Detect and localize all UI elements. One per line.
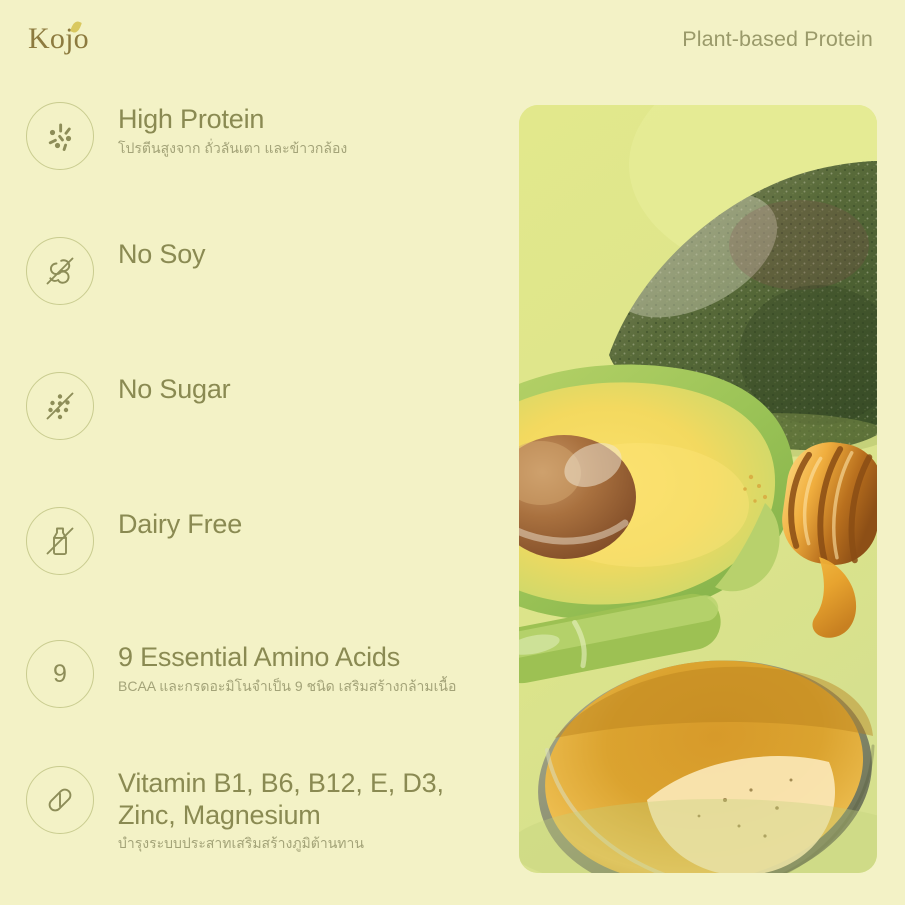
- feature-text: No Soy: [118, 237, 205, 271]
- feature-list: High Protein โปรตีนสูงจาก ถั่วลันเตา และ…: [0, 96, 500, 896]
- feature-item-vitamins: Vitamin B1, B6, B12, E, D3, Zinc, Magnes…: [26, 766, 496, 853]
- grain-burst-icon: [26, 102, 94, 170]
- page-title: Plant-based Protein: [682, 27, 873, 52]
- product-photo: [519, 105, 877, 873]
- feature-item-no-soy: No Soy: [26, 237, 496, 305]
- header: Kojo Plant-based Protein: [0, 0, 905, 92]
- feature-item-amino-acids: 9 9 Essential Amino Acids BCAA และกรดอะม…: [26, 640, 496, 708]
- feature-title: No Soy: [118, 239, 205, 271]
- feature-item-high-protein: High Protein โปรตีนสูงจาก ถั่วลันเตา และ…: [26, 102, 496, 170]
- number-nine-icon: 9: [26, 640, 94, 708]
- no-sugar-icon: [26, 372, 94, 440]
- brand-logo: Kojo: [28, 24, 89, 54]
- avocado-honey-illustration: [519, 105, 877, 873]
- capsule-pill-icon: [26, 766, 94, 834]
- product-feature-card: Kojo Plant-based Protein: [0, 0, 905, 905]
- feature-title: High Protein: [118, 104, 347, 136]
- number-nine-label: 9: [53, 662, 67, 687]
- feature-title: Vitamin B1, B6, B12, E, D3, Zinc, Magnes…: [118, 768, 444, 831]
- feature-item-dairy-free: Dairy Free: [26, 507, 496, 575]
- feature-text: High Protein โปรตีนสูงจาก ถั่วลันเตา และ…: [118, 102, 347, 157]
- feature-subtitle: บำรุงระบบประสาทเสริมสร้างภูมิต้านทาน: [118, 834, 444, 853]
- feature-title: No Sugar: [118, 374, 230, 406]
- feature-title: Dairy Free: [118, 509, 242, 541]
- feature-text: Vitamin B1, B6, B12, E, D3, Zinc, Magnes…: [118, 766, 444, 853]
- feature-subtitle: โปรตีนสูงจาก ถั่วลันเตา และข้าวกล้อง: [118, 139, 347, 158]
- feature-text: 9 Essential Amino Acids BCAA และกรดอะมิโ…: [118, 640, 456, 695]
- feature-item-no-sugar: No Sugar: [26, 372, 496, 440]
- feature-text: No Sugar: [118, 372, 230, 406]
- no-soy-icon: [26, 237, 94, 305]
- feature-title: 9 Essential Amino Acids: [118, 642, 456, 674]
- feature-subtitle: BCAA และกรดอะมิโนจำเป็น 9 ชนิด เสริมสร้า…: [118, 677, 456, 696]
- feature-text: Dairy Free: [118, 507, 242, 541]
- no-dairy-bottle-icon: [26, 507, 94, 575]
